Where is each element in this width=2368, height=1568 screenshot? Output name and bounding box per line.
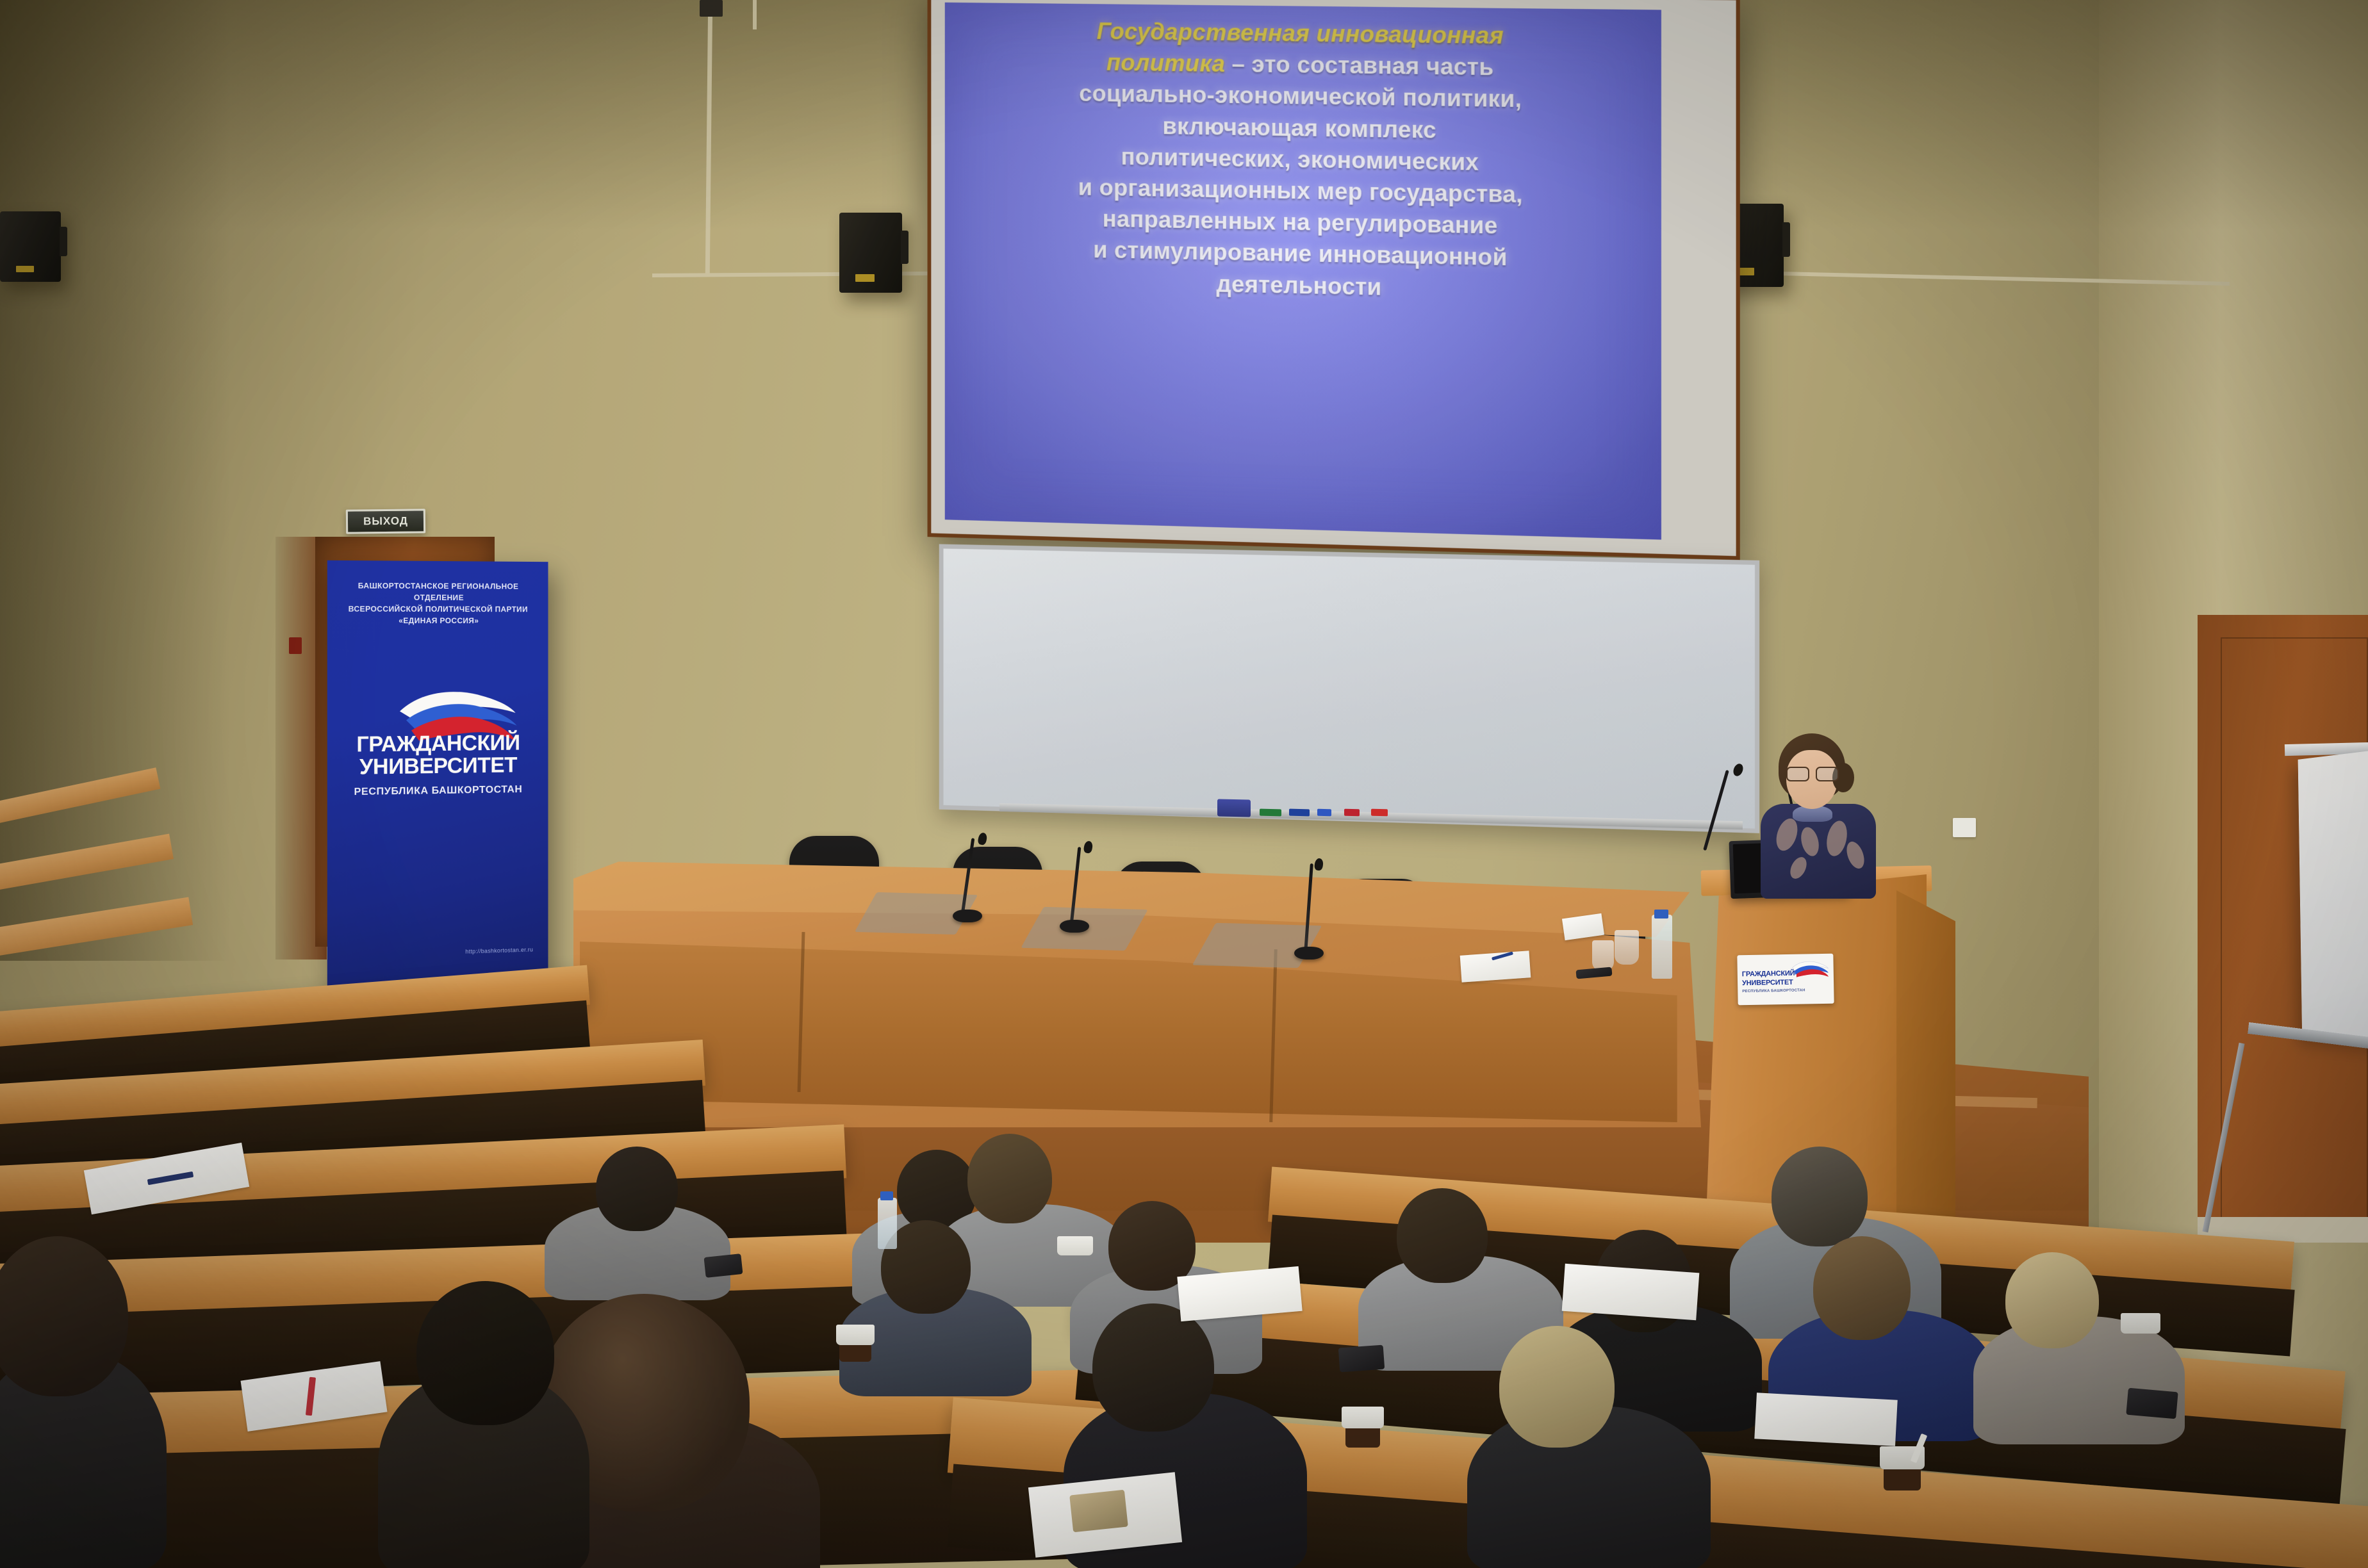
marker-green [1260, 809, 1281, 817]
attendee-head [596, 1147, 678, 1231]
banner-header-line-1: Башкортостанское региональное отделение [339, 580, 537, 603]
slide-emphasis-2: политика [1106, 49, 1225, 77]
rollup-banner: Башкортостанское региональное отделение … [327, 560, 548, 995]
presentation-slide: Государственная инновационная политика –… [945, 3, 1661, 540]
banner-header: Башкортостанское региональное отделение … [327, 580, 548, 626]
exit-sign: ВЫХОД [346, 509, 425, 534]
smartphone [2126, 1388, 2178, 1419]
coffee-cup [1057, 1236, 1093, 1255]
paper-sheet [1562, 1264, 1700, 1320]
smartphone [703, 1254, 743, 1278]
cable-conduit-short [753, 0, 757, 29]
projection-screen-surface: Государственная инновационная политика –… [931, 0, 1736, 556]
banner-url: http://bashkortostan.er.ru [465, 946, 533, 954]
podium-sign-line-1: ГРАЖДАНСКИЙ [1742, 970, 1795, 978]
wall-speaker-left [0, 211, 61, 282]
whiteboard-eraser [1217, 799, 1251, 817]
microphone-base-2 [1060, 920, 1089, 933]
marker-blue [1289, 809, 1310, 817]
whiteboard [939, 544, 1759, 833]
attendee-head [2005, 1252, 2099, 1348]
smartphone [1069, 1490, 1128, 1533]
podium-flag-icon [1791, 959, 1829, 979]
banner-title: ГРАЖДАНСКИЙ УНИВЕРСИТЕТ [327, 731, 548, 778]
banner-subtitle: РЕСПУБЛИКА БАШКОРТОСТАН [327, 783, 548, 798]
banner-title-line-2: УНИВЕРСИТЕТ [327, 754, 548, 779]
coffee-cup [836, 1325, 875, 1345]
coffee-cup [2121, 1313, 2160, 1334]
attendee-head [1772, 1147, 1868, 1246]
wall-shadow-left [0, 0, 231, 961]
cable-junction-box [700, 0, 723, 17]
marker-red [1344, 809, 1360, 817]
smartphone [1338, 1345, 1385, 1373]
microphone-base-3 [1294, 947, 1324, 960]
coffee-cup [1342, 1407, 1384, 1428]
podium-sign-line-3: РЕСПУБЛИКА БАШКОРТОСТАН [1742, 988, 1805, 993]
presenter [1757, 733, 1879, 894]
paper-sheet [1754, 1392, 1897, 1446]
podium-side-panel [1896, 890, 1955, 1233]
projection-screen-frame: Государственная инновационная политика –… [928, 0, 1740, 560]
drinking-glass-2 [1592, 940, 1614, 971]
exit-sign-label: ВЫХОД [363, 515, 408, 528]
banner-header-line-2: Всероссийской политической партии [339, 603, 537, 616]
microphone-base-1 [953, 910, 982, 922]
marker-red-2 [1371, 809, 1388, 817]
water-bottle-cap [880, 1191, 893, 1200]
attendee-head-foreground [1499, 1326, 1615, 1448]
water-bottle-cap [1654, 910, 1668, 919]
attendee-head-foreground [416, 1281, 554, 1425]
attendee-head-foreground [1092, 1303, 1214, 1432]
drinking-glass-1 [1615, 930, 1639, 965]
attendee-head [1397, 1188, 1488, 1283]
fire-alarm-icon [289, 637, 302, 654]
water-bottle-audience [878, 1198, 897, 1249]
attendee-head [1813, 1236, 1911, 1340]
banner-header-line-3: «Единая Россия» [339, 615, 537, 626]
attendee-head [967, 1134, 1052, 1223]
presenter-glasses-icon [1786, 767, 1839, 779]
wall-speaker-center [839, 213, 902, 293]
slide-text-0: – это составная часть [1232, 51, 1494, 80]
water-bottle [1652, 915, 1672, 979]
wall-socket [1953, 818, 1976, 837]
slide-emphasis-1: Государственная инновационная [1097, 18, 1504, 49]
podium-sign-line-2: УНИВЕРСИТЕТ [1742, 979, 1793, 987]
marker-blue-2 [1317, 809, 1331, 817]
flipchart-paper [2298, 735, 2368, 1052]
paper-on-presidium [1460, 951, 1531, 982]
podium-sign: ГРАЖДАНСКИЙ УНИВЕРСИТЕТ РЕСПУБЛИКА БАШКО… [1737, 954, 1834, 1006]
lecture-hall-photo: Государственная инновационная политика –… [0, 0, 2368, 1568]
